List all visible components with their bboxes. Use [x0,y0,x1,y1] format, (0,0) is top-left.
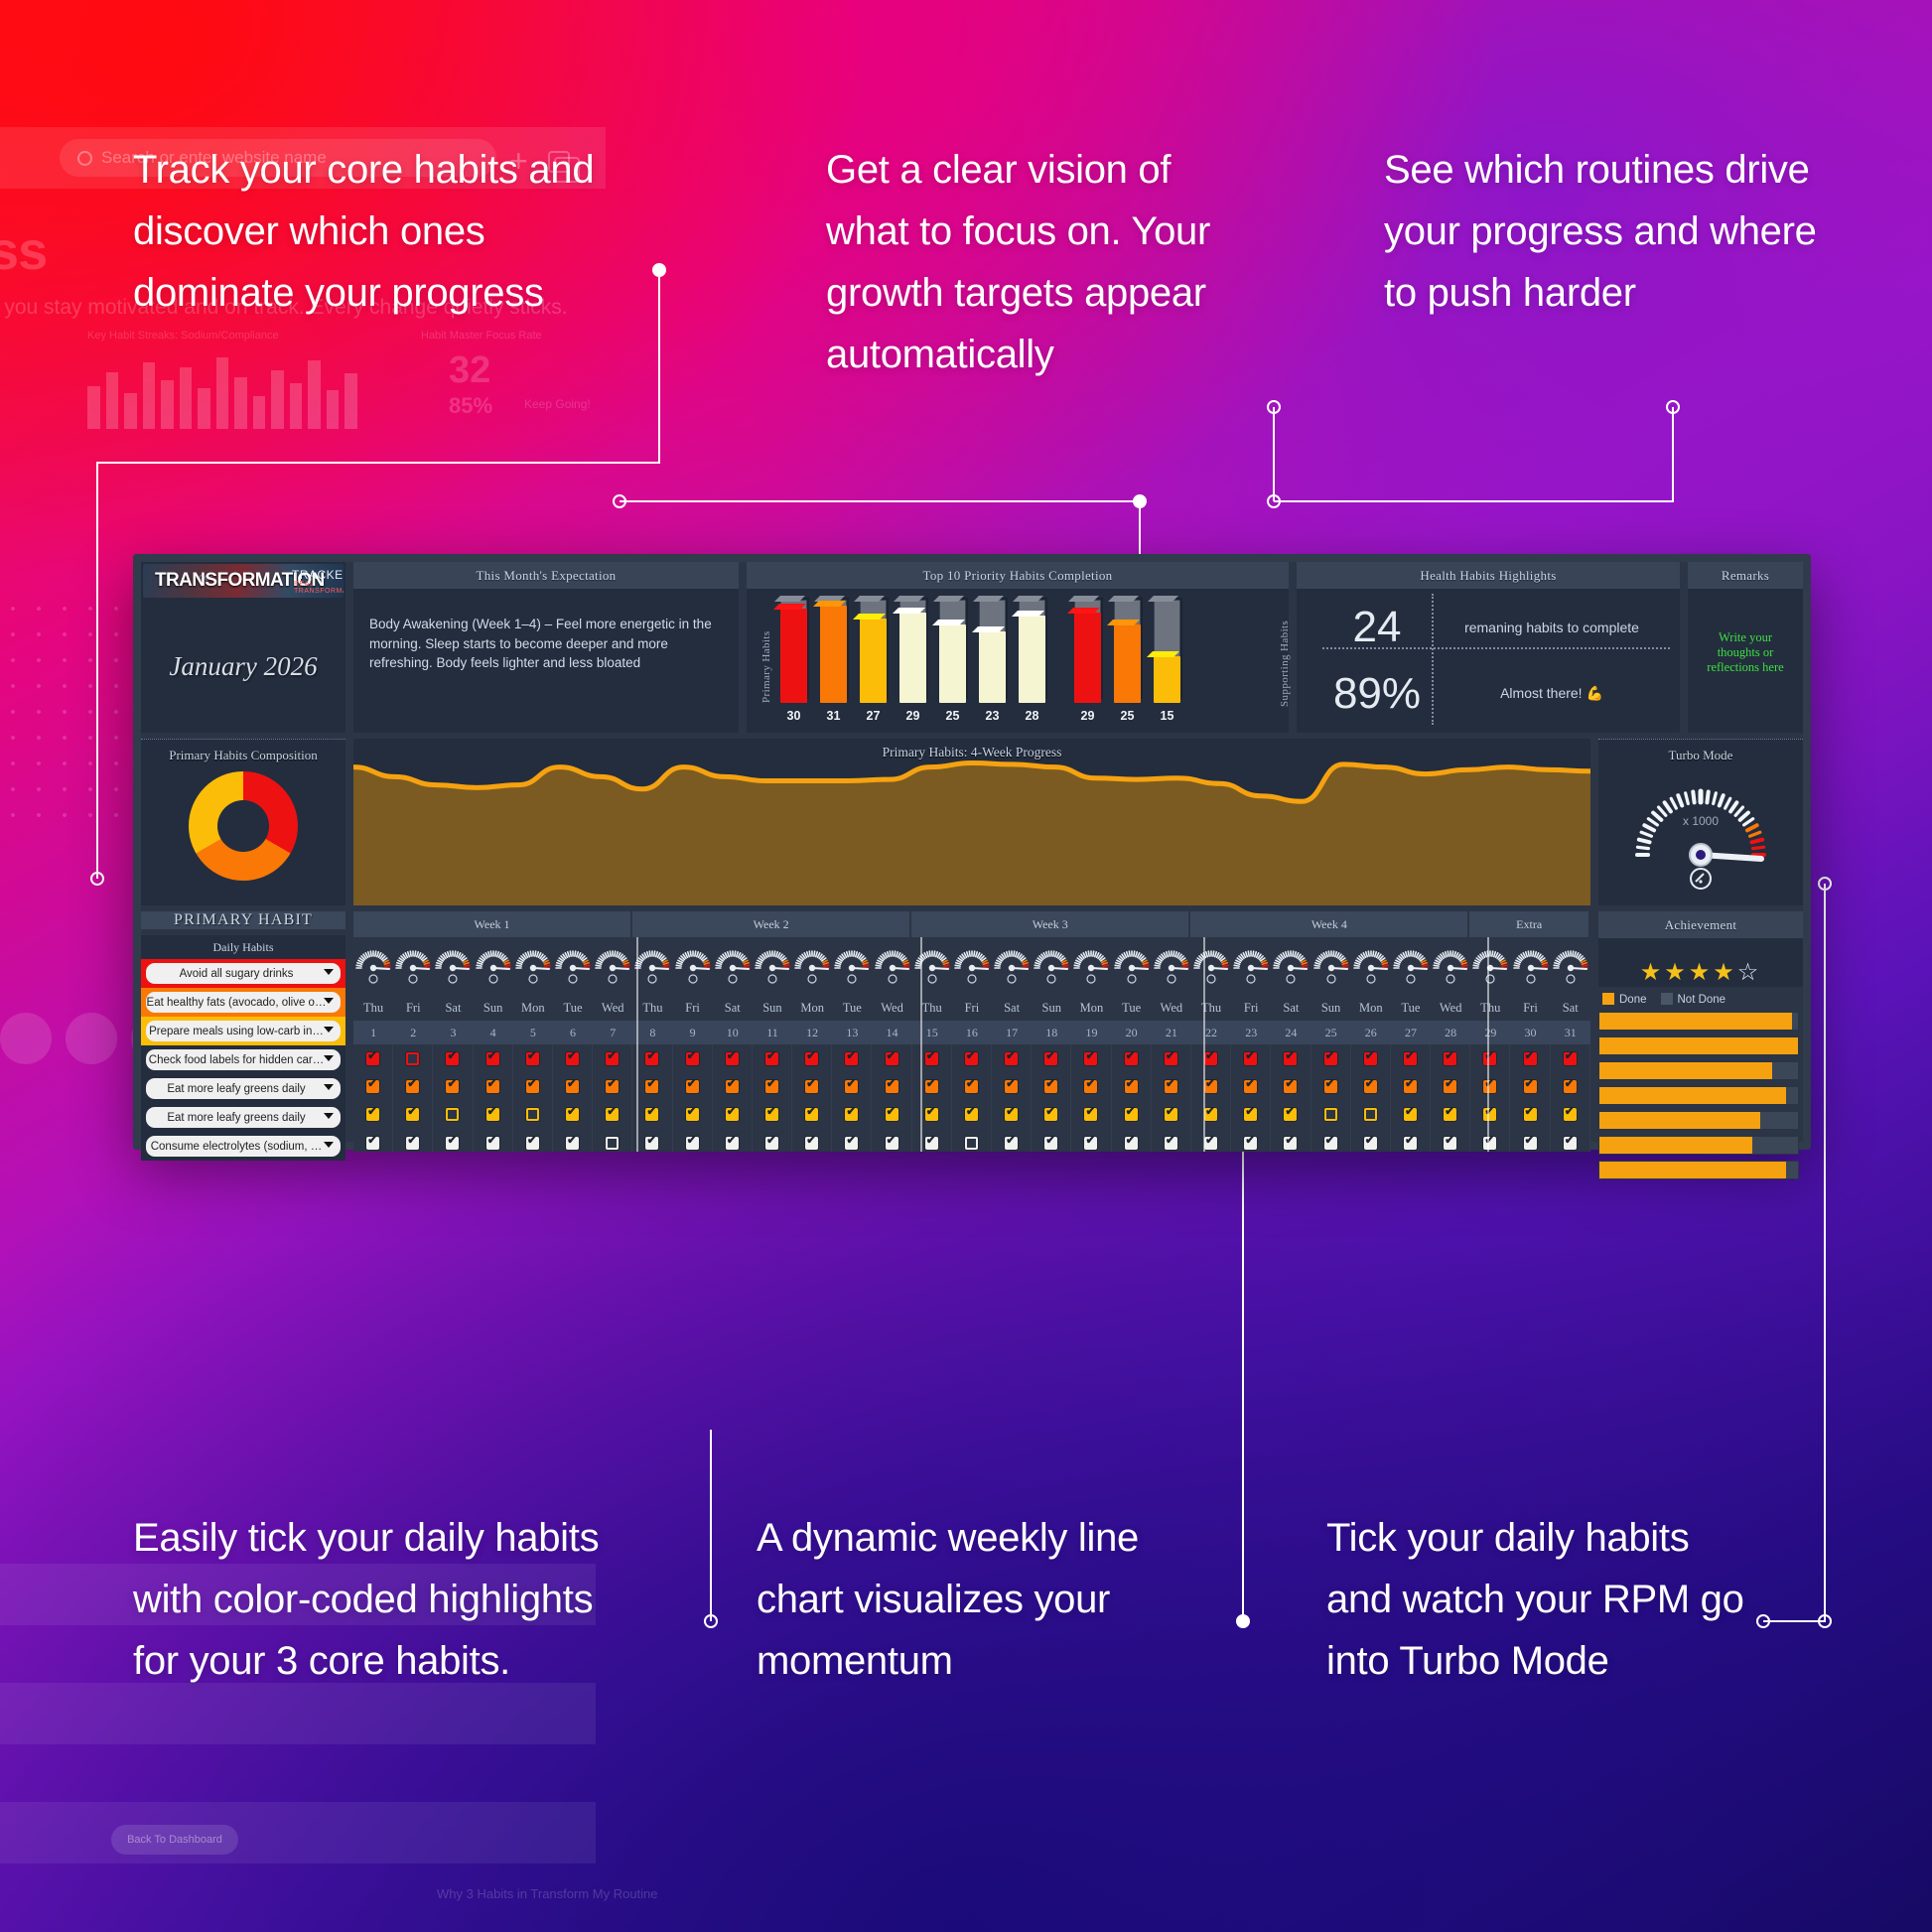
habit-row[interactable]: Check food labels for hidden car… [141,1045,345,1074]
checkbox-checked-icon[interactable] [726,1052,739,1065]
checkbox-checked-icon[interactable] [366,1137,379,1150]
checkbox-cell[interactable] [872,1101,911,1129]
checkbox-cell[interactable] [433,1129,473,1152]
checkbox-cell[interactable] [1071,1101,1111,1129]
checkbox-checked-icon[interactable] [645,1052,658,1065]
checkbox-checked-icon[interactable] [1204,1052,1217,1065]
checkbox-cell[interactable] [1510,1101,1550,1129]
day-number: 1 [353,1021,393,1044]
checkbox-cell[interactable] [832,1044,872,1072]
checkbox-checked-icon[interactable] [486,1108,499,1121]
checkbox-cell[interactable] [832,1101,872,1129]
checkbox-cell[interactable] [673,1072,713,1100]
habit-select[interactable]: Eat more leafy greens daily [146,1078,341,1099]
checkbox-cell[interactable] [393,1044,433,1072]
checkbox-checked-icon[interactable] [1364,1052,1377,1065]
checkbox-checked-icon[interactable] [1564,1137,1577,1150]
checkbox-checked-icon[interactable] [686,1137,699,1150]
checkbox-cell[interactable] [713,1072,753,1100]
checkbox-checked-icon[interactable] [1284,1137,1297,1150]
checkbox-checked-icon[interactable] [1005,1137,1018,1150]
checkbox-checked-icon[interactable] [925,1137,938,1150]
checkbox-checked-icon[interactable] [1444,1108,1456,1121]
checkbox-cell[interactable] [353,1044,393,1072]
checkbox-row [353,1044,1590,1072]
checkbox-checked-icon[interactable] [1204,1108,1217,1121]
habit-row[interactable]: Eat more leafy greens daily [141,1103,345,1132]
checkbox-cell[interactable] [1191,1072,1231,1100]
checkbox-cell[interactable] [673,1101,713,1129]
daily-gauge [474,941,513,991]
checkbox-cell[interactable] [1551,1129,1590,1152]
checkbox-cell[interactable] [1510,1072,1550,1100]
habit-select[interactable]: Eat more leafy greens daily [146,1107,341,1128]
checkbox-cell[interactable] [1431,1129,1470,1152]
checkbox-checked-icon[interactable] [1044,1080,1057,1093]
checkbox-cell[interactable] [1191,1129,1231,1152]
checkbox-checked-icon[interactable] [886,1108,898,1121]
checkbox-unchecked-icon[interactable] [526,1108,539,1121]
checkbox-cell[interactable] [1510,1129,1550,1152]
checkbox-cell[interactable] [513,1101,553,1129]
bar-value: 29 [899,709,926,723]
checkbox-checked-icon[interactable] [1404,1080,1417,1093]
checkbox-cell[interactable] [1071,1129,1111,1152]
turbo-gauge: x 1000 [1598,763,1803,893]
daily-gauge [952,941,992,991]
checkbox-cell[interactable] [832,1072,872,1100]
remarks-panel[interactable]: Remarks Write your thoughts or reflectio… [1688,562,1803,733]
checkbox-checked-icon[interactable] [1404,1052,1417,1065]
checkbox-checked-icon[interactable] [1524,1080,1537,1093]
checkbox-cell[interactable] [1032,1072,1071,1100]
checkbox-cell[interactable] [872,1072,911,1100]
checkbox-unchecked-icon[interactable] [1364,1108,1377,1121]
daily-gauge [1112,941,1152,991]
checkbox-checked-icon[interactable] [406,1137,419,1150]
checkbox-cell[interactable] [1551,1072,1590,1100]
checkbox-checked-icon[interactable] [486,1080,499,1093]
checkbox-checked-icon[interactable] [1483,1080,1496,1093]
checkbox-checked-icon[interactable] [925,1052,938,1065]
checkbox-checked-icon[interactable] [606,1052,619,1065]
checkbox-cell[interactable] [513,1072,553,1100]
habit-row[interactable]: Prepare meals using low-carb in… [141,1017,345,1045]
checkbox-checked-icon[interactable] [765,1137,778,1150]
checkbox-cell[interactable] [1112,1072,1152,1100]
checkbox-checked-icon[interactable] [1524,1108,1537,1121]
checkbox-checked-icon[interactable] [765,1108,778,1121]
checkbox-cell[interactable] [753,1044,792,1072]
day-name: Sat [1271,995,1311,1021]
checkbox-cell[interactable] [792,1044,832,1072]
checkbox-cell[interactable] [1431,1101,1470,1129]
checkbox-checked-icon[interactable] [606,1108,619,1121]
checkbox-cell[interactable] [393,1101,433,1129]
checkbox-checked-icon[interactable] [1084,1108,1097,1121]
checkbox-checked-icon[interactable] [1444,1137,1456,1150]
checkbox-cell[interactable] [593,1101,632,1129]
checkbox-checked-icon[interactable] [1084,1052,1097,1065]
habit-select[interactable]: Check food labels for hidden car… [146,1049,341,1070]
checkbox-cell[interactable] [673,1129,713,1152]
day-name: Sun [474,995,513,1021]
checkbox-cell[interactable] [952,1129,992,1152]
checkbox-checked-icon[interactable] [526,1052,539,1065]
checkbox-cell[interactable] [713,1129,753,1152]
brand-column: ‹‹‹ ››› TRANSFORMATION TRACKER REAL TRAN… [141,562,345,733]
checkbox-checked-icon[interactable] [1125,1108,1138,1121]
checkbox-cell[interactable] [1112,1044,1152,1072]
checkbox-cell[interactable] [1032,1101,1071,1129]
checkbox-cell[interactable] [1551,1044,1590,1072]
checkbox-cell[interactable] [792,1072,832,1100]
habit-row[interactable]: Eat healthy fats (avocado, olive o… [141,988,345,1017]
checkbox-cell[interactable] [952,1044,992,1072]
checkbox-cell[interactable] [1470,1072,1510,1100]
daily-gauge [1510,941,1550,991]
checkbox-cell[interactable] [1311,1072,1351,1100]
checkbox-checked-icon[interactable] [1084,1080,1097,1093]
checkbox-cell[interactable] [433,1072,473,1100]
checkbox-checked-icon[interactable] [1483,1052,1496,1065]
checkbox-cell[interactable] [1391,1101,1431,1129]
checkbox-checked-icon[interactable] [1404,1137,1417,1150]
checkbox-checked-icon[interactable] [1244,1137,1257,1150]
checkbox-checked-icon[interactable] [1244,1080,1257,1093]
week-divider [920,937,922,1152]
checkbox-checked-icon[interactable] [845,1080,858,1093]
checkbox-cell[interactable] [1071,1072,1111,1100]
checkbox-cell[interactable] [792,1101,832,1129]
checkbox-cell[interactable] [1152,1072,1191,1100]
checkbox-checked-icon[interactable] [1125,1137,1138,1150]
checkbox-checked-icon[interactable] [805,1080,818,1093]
remarks-title: Remarks [1688,562,1803,589]
legend-not-done: Not Done [1661,993,1726,1006]
checkbox-cell[interactable] [792,1129,832,1152]
checkbox-cell[interactable] [553,1072,593,1100]
checkbox-checked-icon[interactable] [406,1080,419,1093]
checkbox-cell[interactable] [1311,1101,1351,1129]
checkbox-checked-icon[interactable] [645,1108,658,1121]
daily-gauge [992,941,1032,991]
habit-select[interactable]: Avoid all sugary drinks [146,963,341,984]
checkbox-cell[interactable] [1112,1129,1152,1152]
checkbox-cell[interactable] [513,1044,553,1072]
checkbox-checked-icon[interactable] [765,1080,778,1093]
day-name: Fri [393,995,433,1021]
checkbox-checked-icon[interactable] [965,1080,978,1093]
checkbox-cell[interactable] [1391,1072,1431,1100]
checkbox-unchecked-icon[interactable] [406,1052,419,1065]
checkbox-cell[interactable] [393,1072,433,1100]
checkbox-cell[interactable] [912,1072,952,1100]
top10-panel: Top 10 Priority Habits Completion Primar… [747,562,1289,733]
checkbox-checked-icon[interactable] [526,1080,539,1093]
checkbox-checked-icon[interactable] [446,1052,459,1065]
checkbox-checked-icon[interactable] [1165,1108,1177,1121]
checkbox-checked-icon[interactable] [925,1108,938,1121]
checkbox-cell[interactable] [1152,1129,1191,1152]
checkbox-checked-icon[interactable] [566,1137,579,1150]
checkbox-cell[interactable] [1231,1072,1271,1100]
checkbox-cell[interactable] [1231,1129,1271,1152]
checkbox-cell[interactable] [1351,1072,1391,1100]
checkbox-checked-icon[interactable] [645,1137,658,1150]
checkbox-cell[interactable] [553,1044,593,1072]
checkbox-checked-icon[interactable] [1404,1108,1417,1121]
checkbox-checked-icon[interactable] [1483,1108,1496,1121]
checkbox-cell[interactable] [1152,1044,1191,1072]
checkbox-grid [353,1044,1590,1152]
checkbox-cell[interactable] [1470,1044,1510,1072]
checkbox-cell[interactable] [753,1072,792,1100]
checkbox-cell[interactable] [1191,1044,1231,1072]
daily-gauge [832,941,872,991]
checkbox-checked-icon[interactable] [486,1052,499,1065]
checkbox-cell[interactable] [593,1072,632,1100]
checkbox-cell[interactable] [912,1129,952,1152]
day-name: Sun [1311,995,1351,1021]
checkbox-checked-icon[interactable] [845,1052,858,1065]
checkbox-checked-icon[interactable] [406,1108,419,1121]
achievement-bar [1598,1036,1799,1055]
checkbox-cell[interactable] [1032,1129,1071,1152]
checkbox-cell[interactable] [593,1129,632,1152]
habit-tracker-grid: Week 1Week 2Week 3Week 4Extra ThuFriSatS… [353,911,1590,1152]
day-number: 5 [513,1021,553,1044]
checkbox-cell[interactable] [1351,1129,1391,1152]
checkbox-cell[interactable] [912,1101,952,1129]
checkbox-cell[interactable] [1191,1101,1231,1129]
checkbox-checked-icon[interactable] [446,1080,459,1093]
checkbox-checked-icon[interactable] [1165,1052,1177,1065]
checkbox-cell[interactable] [1032,1044,1071,1072]
checkbox-checked-icon[interactable] [1284,1080,1297,1093]
checkbox-checked-icon[interactable] [566,1080,579,1093]
checkbox-checked-icon[interactable] [366,1080,379,1093]
checkbox-cell[interactable] [593,1044,632,1072]
checkbox-cell[interactable] [1271,1101,1311,1129]
checkbox-cell[interactable] [474,1101,513,1129]
checkbox-checked-icon[interactable] [1564,1080,1577,1093]
checkbox-checked-icon[interactable] [686,1052,699,1065]
habit-select[interactable]: Consume electrolytes (sodium, … [146,1136,341,1157]
checkbox-checked-icon[interactable] [1204,1137,1217,1150]
ghost-chart-label-left: Key Habit Streaks: Sodium/Compliance [87,330,279,342]
checkbox-cell[interactable] [1231,1044,1271,1072]
checkbox-checked-icon[interactable] [1324,1052,1337,1065]
checkbox-cell[interactable] [753,1129,792,1152]
checkbox-checked-icon[interactable] [1284,1052,1297,1065]
checkbox-cell[interactable] [553,1129,593,1152]
checkbox-checked-icon[interactable] [1125,1052,1138,1065]
checkbox-checked-icon[interactable] [726,1080,739,1093]
checkbox-cell[interactable] [1351,1044,1391,1072]
checkbox-cell[interactable] [353,1129,393,1152]
checkbox-cell[interactable] [393,1129,433,1152]
checkbox-checked-icon[interactable] [1324,1137,1337,1150]
ghost-back-button: Back To Dashboard [111,1825,238,1855]
checkbox-cell[interactable] [1391,1129,1431,1152]
checkbox-checked-icon[interactable] [886,1137,898,1150]
callout-3: See which routines drive your progress a… [1384,139,1851,324]
checkbox-checked-icon[interactable] [1204,1080,1217,1093]
checkbox-unchecked-icon[interactable] [606,1137,619,1150]
achievement-bar [1598,1086,1799,1105]
checkbox-checked-icon[interactable] [566,1052,579,1065]
checkbox-checked-icon[interactable] [1524,1052,1537,1065]
checkbox-checked-icon[interactable] [886,1052,898,1065]
checkbox-checked-icon[interactable] [925,1080,938,1093]
checkbox-cell[interactable] [1152,1101,1191,1129]
checkbox-checked-icon[interactable] [1005,1080,1018,1093]
callout-2: Get a clear vision of what to focus on. … [826,139,1253,385]
habit-row[interactable]: Eat more leafy greens daily [141,1074,345,1103]
checkbox-unchecked-icon[interactable] [1324,1108,1337,1121]
checkbox-checked-icon[interactable] [1364,1137,1377,1150]
habit-select[interactable]: Prepare meals using low-carb in… [146,1021,341,1041]
checkbox-checked-icon[interactable] [1284,1108,1297,1121]
turbo-title: Turbo Mode [1598,740,1803,763]
checkbox-cell[interactable] [1431,1072,1470,1100]
checkbox-checked-icon[interactable] [1364,1080,1377,1093]
day-name: Tue [832,995,872,1021]
checkbox-checked-icon[interactable] [805,1052,818,1065]
checkbox-cell[interactable] [952,1101,992,1129]
checkbox-checked-icon[interactable] [1524,1137,1537,1150]
checkbox-cell[interactable] [992,1129,1032,1152]
checkbox-cell[interactable] [1311,1044,1351,1072]
checkbox-cell[interactable] [912,1044,952,1072]
checkbox-cell[interactable] [713,1044,753,1072]
checkbox-cell[interactable] [1510,1044,1550,1072]
checkbox-checked-icon[interactable] [686,1108,699,1121]
checkbox-checked-icon[interactable] [965,1052,978,1065]
remarks-input[interactable]: Write your thoughts or reflections here [1688,589,1803,716]
checkbox-checked-icon[interactable] [965,1108,978,1121]
checkbox-cell[interactable] [1271,1044,1311,1072]
checkbox-cell[interactable] [872,1129,911,1152]
day-number: 29 [1470,1021,1510,1044]
checkbox-cell[interactable] [992,1101,1032,1129]
checkbox-cell[interactable] [1271,1129,1311,1152]
checkbox-cell[interactable] [1470,1101,1510,1129]
checkbox-cell[interactable] [1071,1044,1111,1072]
checkbox-checked-icon[interactable] [1125,1080,1138,1093]
checkbox-cell[interactable] [1391,1044,1431,1072]
checkbox-cell[interactable] [673,1044,713,1072]
checkbox-cell[interactable] [753,1101,792,1129]
checkbox-cell[interactable] [474,1044,513,1072]
checkbox-checked-icon[interactable] [526,1137,539,1150]
checkbox-cell[interactable] [713,1101,753,1129]
day-name: Wed [1431,995,1470,1021]
checkbox-checked-icon[interactable] [805,1108,818,1121]
checkbox-checked-icon[interactable] [686,1080,699,1093]
habit-label: Check food labels for hidden car… [149,1054,324,1066]
checkbox-checked-icon[interactable] [1444,1052,1456,1065]
checkbox-checked-icon[interactable] [366,1052,379,1065]
checkbox-checked-icon[interactable] [1044,1108,1057,1121]
checkbox-cell[interactable] [1311,1129,1351,1152]
legend-not-done-label: Not Done [1678,994,1726,1006]
checkbox-checked-icon[interactable] [1324,1080,1337,1093]
checkbox-checked-icon[interactable] [1044,1137,1057,1150]
checkbox-unchecked-icon[interactable] [446,1108,459,1121]
checkbox-checked-icon[interactable] [1564,1108,1577,1121]
checkbox-cell[interactable] [1470,1129,1510,1152]
checkbox-checked-icon[interactable] [1005,1052,1018,1065]
checkbox-cell[interactable] [952,1072,992,1100]
checkbox-cell[interactable] [474,1072,513,1100]
checkbox-checked-icon[interactable] [486,1137,499,1150]
checkbox-checked-icon[interactable] [1483,1137,1496,1150]
checkbox-cell[interactable] [433,1101,473,1129]
checkbox-checked-icon[interactable] [1244,1108,1257,1121]
checkbox-checked-icon[interactable] [805,1137,818,1150]
checkbox-checked-icon[interactable] [1444,1080,1456,1093]
checkbox-checked-icon[interactable] [1564,1052,1577,1065]
checkbox-cell[interactable] [1271,1072,1311,1100]
day-number: 10 [713,1021,753,1044]
checkbox-cell[interactable] [1351,1101,1391,1129]
checkbox-checked-icon[interactable] [606,1080,619,1093]
checkbox-checked-icon[interactable] [645,1080,658,1093]
checkbox-checked-icon[interactable] [446,1137,459,1150]
checkbox-unchecked-icon[interactable] [965,1137,978,1150]
habit-select[interactable]: Eat healthy fats (avocado, olive o… [146,992,341,1013]
checkbox-checked-icon[interactable] [845,1108,858,1121]
checkbox-checked-icon[interactable] [765,1052,778,1065]
checkbox-cell[interactable] [1551,1101,1590,1129]
checkbox-checked-icon[interactable] [366,1108,379,1121]
checkbox-cell[interactable] [433,1044,473,1072]
checkbox-checked-icon[interactable] [845,1137,858,1150]
daily-gauge [673,941,713,991]
checkbox-checked-icon[interactable] [1165,1137,1177,1150]
checkbox-checked-icon[interactable] [1084,1137,1097,1150]
daily-gauge [1311,941,1351,991]
checkbox-checked-icon[interactable] [1044,1052,1057,1065]
checkbox-checked-icon[interactable] [886,1080,898,1093]
daily-gauge [713,941,753,991]
checkbox-checked-icon[interactable] [726,1108,739,1121]
checkbox-checked-icon[interactable] [566,1108,579,1121]
chevron-down-icon [324,998,334,1004]
checkbox-cell[interactable] [553,1101,593,1129]
checkbox-cell[interactable] [832,1129,872,1152]
checkbox-cell[interactable] [353,1101,393,1129]
checkbox-cell[interactable] [1431,1044,1470,1072]
checkbox-cell[interactable] [1112,1101,1152,1129]
checkbox-checked-icon[interactable] [726,1137,739,1150]
checkbox-cell[interactable] [513,1129,553,1152]
checkbox-cell[interactable] [992,1044,1032,1072]
habit-row[interactable]: Consume electrolytes (sodium, … [141,1132,345,1161]
checkbox-checked-icon[interactable] [1244,1052,1257,1065]
checkbox-cell[interactable] [353,1072,393,1100]
checkbox-checked-icon[interactable] [1005,1108,1018,1121]
checkbox-cell[interactable] [992,1072,1032,1100]
checkbox-cell[interactable] [872,1044,911,1072]
checkbox-cell[interactable] [1231,1101,1271,1129]
day-name: Mon [1071,995,1111,1021]
checkbox-checked-icon[interactable] [1165,1080,1177,1093]
habit-row[interactable]: Avoid all sugary drinks [141,959,345,988]
checkbox-cell[interactable] [474,1129,513,1152]
